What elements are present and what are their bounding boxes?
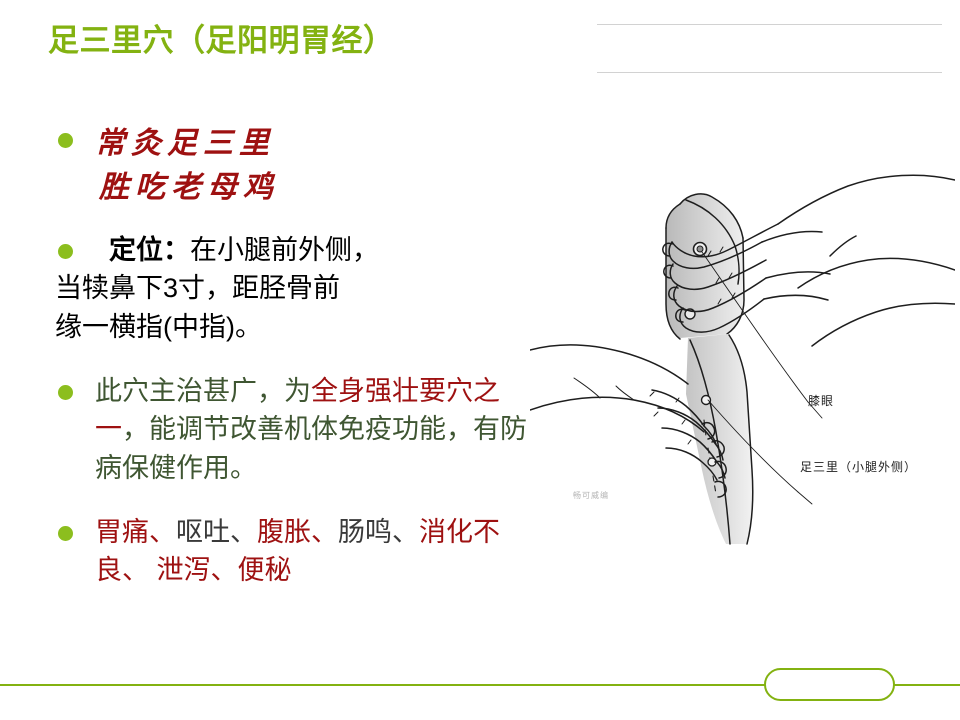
bullet-item-couplet: 常灸足三里 胜吃老母鸡 (40, 122, 540, 209)
symptom-4: 肠鸣、 (338, 517, 419, 547)
slide-canvas: 足三里穴（足阳明胃经） 常灸足三里 胜吃老母鸡 定位：在小腿前外侧， 当犊鼻下3… (0, 0, 960, 720)
symptom-3: 腹胀、 (257, 517, 338, 547)
symptom-1: 胃痛、 (95, 517, 176, 547)
figure-label-zusanli: 足三里（小腿外侧） (800, 458, 917, 475)
indication-part-3: ，能调节改善机体免疫功能，有防病保健作用。 (95, 414, 527, 482)
location-lead-label: 定位： (95, 235, 190, 265)
symptom-text: 胃痛、呕吐、腹胀、肠鸣、消化不良、 泄泻、便秘 (95, 513, 540, 590)
bullet-item-location: 定位：在小腿前外侧， 当犊鼻下3寸，距胫骨前 缘一横指(中指)。 (40, 231, 540, 346)
symptom-6: 泄泻、便秘 (149, 555, 292, 585)
content-body: 常灸足三里 胜吃老母鸡 定位：在小腿前外侧， 当犊鼻下3寸，距胫骨前 缘一横指(… (40, 122, 540, 608)
top-divider-upper (597, 24, 942, 25)
figure-label-knee-eye: 膝眼 (808, 392, 834, 409)
bullet-dot-icon (58, 244, 73, 259)
bullet-item-indication: 此穴主治甚广，为全身强壮要穴之一，能调节改善机体免疫功能，有防病保健作用。 (40, 372, 540, 487)
symptom-2: 呕吐、 (176, 517, 257, 547)
couplet-line-1: 常灸足三里 (95, 122, 540, 166)
figure-watermark: 畅可威编 (573, 490, 609, 501)
couplet-line-2: 胜吃老母鸡 (95, 166, 540, 210)
couplet-text: 常灸足三里 胜吃老母鸡 (95, 122, 540, 209)
top-divider-lower (597, 72, 942, 73)
page-title: 足三里穴（足阳明胃经） (48, 22, 395, 59)
bullet-dot-icon (58, 385, 73, 400)
location-line-3: 缘一横指(中指)。 (55, 308, 540, 346)
indication-text: 此穴主治甚广，为全身强壮要穴之一，能调节改善机体免疫功能，有防病保健作用。 (95, 372, 540, 487)
indication-part-1: 此穴主治甚广，为 (95, 376, 311, 406)
location-line-1: 在小腿前外侧， (190, 235, 379, 265)
bullet-item-symptoms: 胃痛、呕吐、腹胀、肠鸣、消化不良、 泄泻、便秘 (40, 513, 540, 590)
location-line-2: 当犊鼻下3寸，距胫骨前 (55, 269, 540, 307)
footer-pill-shape (764, 668, 895, 701)
bullet-dot-icon (58, 133, 73, 148)
location-text: 定位：在小腿前外侧， 当犊鼻下3寸，距胫骨前 缘一横指(中指)。 (95, 231, 540, 346)
bullet-dot-icon (58, 526, 73, 541)
